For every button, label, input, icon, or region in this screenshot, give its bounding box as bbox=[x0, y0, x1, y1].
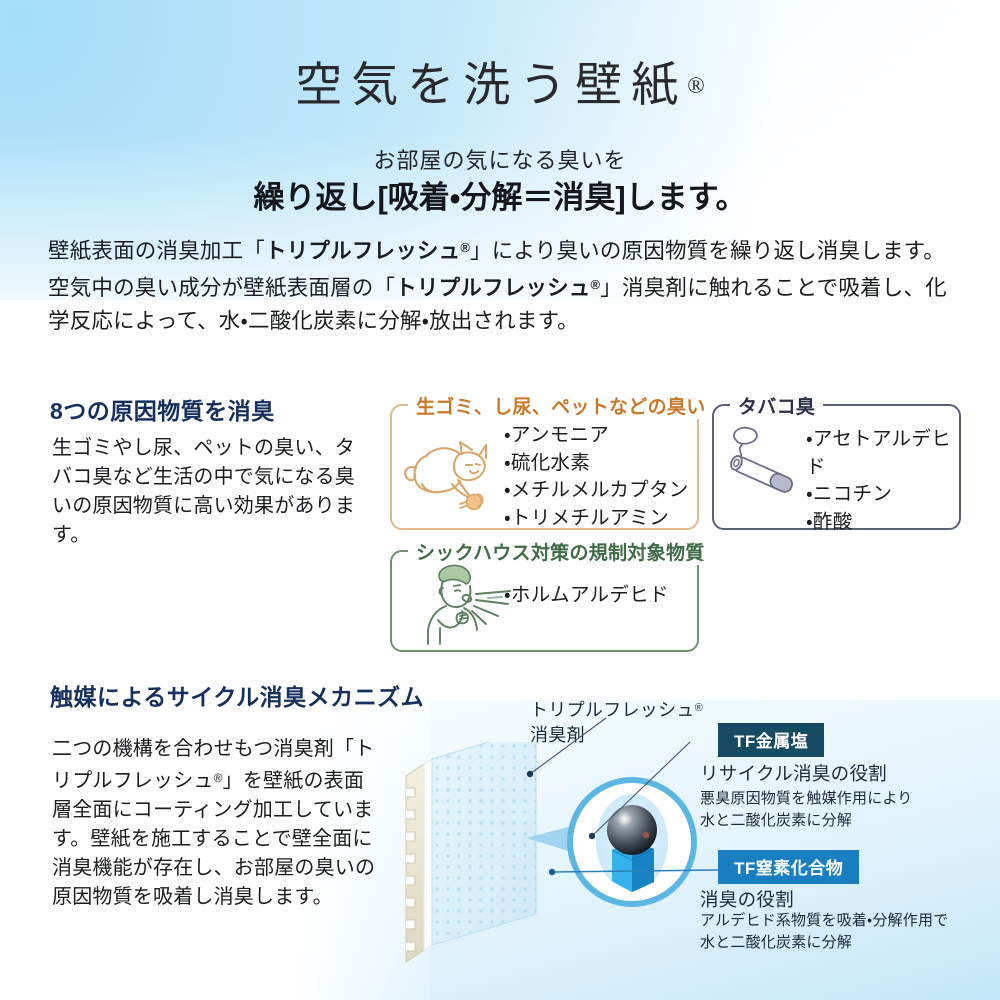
section-paragraph-odor: 生ゴミやし尿、ペットの臭い、タバコ臭など生活の中で気になる臭いの原因物質に高い効… bbox=[52, 434, 362, 550]
callout-metal-body: 悪臭原因物質を触媒作用により 水と二酸化炭素に分解 bbox=[700, 788, 1000, 832]
odor-box-sickhouse: シックハウス対策の規制対象物質 bbox=[390, 550, 699, 652]
list-item: ・ニコチン bbox=[806, 481, 959, 509]
brand-name-2: トリプルフレッシュ bbox=[395, 276, 590, 300]
cat-icon bbox=[400, 424, 500, 510]
lead-segment-1: 壁紙表面の消臭加工「 bbox=[48, 239, 265, 263]
callout-nitrogen-body: アルデヒド系物質を吸着・分解作用で 水と二酸化炭素に分解 bbox=[700, 910, 1000, 954]
list-item: ・酢酸 bbox=[806, 509, 959, 537]
odor-box-tobacco-items: ・アセトアルデヒド ・ニコチン ・酢酸 bbox=[806, 426, 959, 536]
page-title-text: 空気を洗う壁紙 bbox=[295, 60, 687, 112]
coughing-person-icon bbox=[410, 558, 514, 646]
hero-subtitle-line1: お部屋の気になる臭いを bbox=[0, 143, 1000, 175]
callout-metal-title: リサイクル消臭の役割 bbox=[700, 760, 887, 786]
brand-name-1: トリプルフレッシュ bbox=[265, 239, 460, 263]
badge-tf-nitrogen-compound: TF窒素化合物 bbox=[718, 850, 859, 884]
section-paragraph-mechanism: 二つの機構を合わせもつ消臭剤「トリプルフレッシュ®」を壁紙の表面層全面にコーティ… bbox=[52, 735, 382, 912]
odor-box-tobacco-legend: タバコ臭 bbox=[730, 392, 823, 419]
lead-paragraph: 壁紙表面の消臭加工「トリプルフレッシュ®」により臭いの原因物質を繰り返し消臭しま… bbox=[48, 231, 953, 338]
hero-subtitle-line2: 繰り返し[吸着・分解＝消臭]します。 bbox=[0, 172, 1000, 217]
registered-trademark-symbol: ® bbox=[214, 771, 223, 785]
registered-trademark-symbol: ® bbox=[460, 240, 470, 255]
odor-box-sickhouse-items: ・ホルムアルデヒド bbox=[504, 582, 669, 610]
section-heading-odor: 8つの原因物質を消臭 bbox=[50, 392, 275, 426]
callout-nitrogen-title: 消臭の役割 bbox=[700, 886, 794, 912]
page-title: 空気を洗う壁紙® bbox=[0, 46, 1000, 115]
registered-trademark-symbol: ® bbox=[591, 277, 601, 292]
callout-metal-body-line1: 悪臭原因物質を触媒作用により bbox=[700, 788, 1000, 810]
cigarette-icon bbox=[720, 420, 806, 502]
list-item: ・メチルメルカプタン bbox=[504, 477, 689, 505]
odor-box-kitchen-items: ・アンモニア ・硫化水素 ・メチルメルカプタン ・トリメチルアミン bbox=[504, 422, 689, 532]
leader-dot-surface bbox=[527, 771, 533, 777]
list-item: ・硫化水素 bbox=[504, 450, 689, 478]
registered-trademark-symbol: ® bbox=[687, 73, 704, 98]
diagram-leader-lines bbox=[400, 690, 730, 920]
section-heading-mechanism: 触媒によるサイクル消臭メカニズム bbox=[50, 678, 424, 712]
list-item: ・ホルムアルデヒド bbox=[504, 582, 669, 610]
list-item: ・アンモニア bbox=[504, 422, 689, 450]
mechanism-paragraph-before: 二つの機構を合わせもつ消臭剤「 bbox=[52, 738, 354, 760]
odor-box-kitchen-legend: 生ゴミ、し尿、ペットなどの臭い bbox=[408, 392, 714, 419]
infographic-page: 空気を洗う壁紙® お部屋の気になる臭いを 繰り返し[吸着・分解＝消臭]します。 … bbox=[0, 0, 1000, 1000]
callout-metal-body-line2: 水と二酸化炭素に分解 bbox=[700, 810, 1000, 832]
leader-dot-cube bbox=[549, 869, 555, 875]
list-item: ・アセトアルデヒド bbox=[806, 426, 959, 481]
callout-nitrogen-body-line2: 水と二酸化炭素に分解 bbox=[700, 932, 1000, 954]
badge-tf-metal-salt: TF金属塩 bbox=[718, 723, 824, 757]
list-item: ・トリメチルアミン bbox=[504, 505, 689, 533]
odor-box-tobacco: タバコ臭 ・アセトアルデヒド ・ニコチン ・酢酸 bbox=[712, 404, 961, 530]
callout-nitrogen-body-line1: アルデヒド系物質を吸着・分解作用で bbox=[700, 910, 1000, 932]
odor-box-kitchen: 生ゴミ、し尿、ペットなどの臭い bbox=[390, 404, 699, 530]
leader-dot-sphere bbox=[589, 833, 595, 839]
